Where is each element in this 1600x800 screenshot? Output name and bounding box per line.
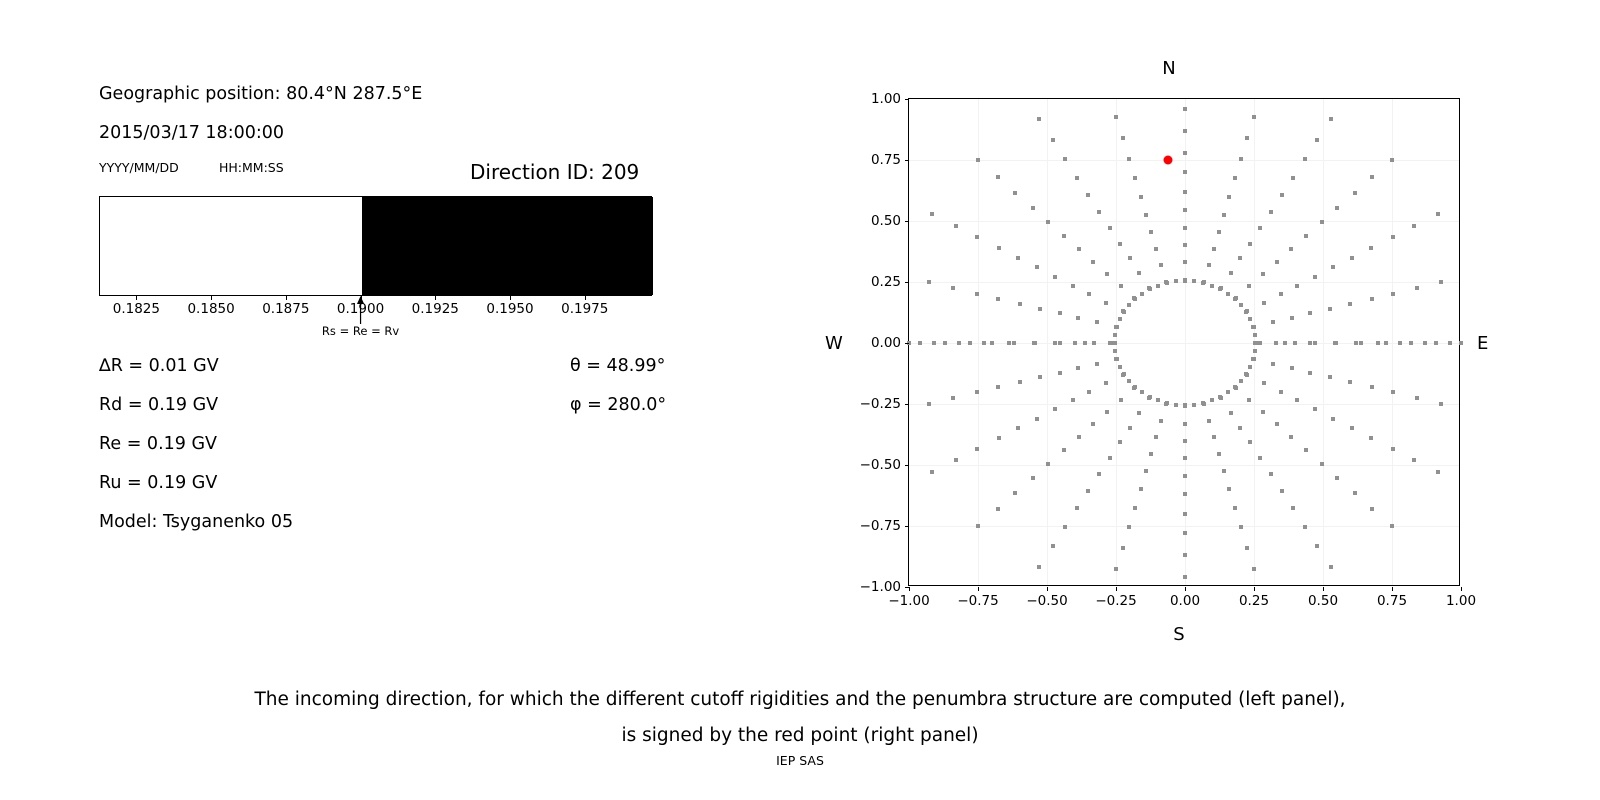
y-axis-tick <box>905 99 909 100</box>
direction-grid-point <box>1315 544 1319 548</box>
direction-grid-point <box>1046 462 1050 466</box>
direction-grid-point <box>1412 224 1416 228</box>
y-axis-tick-label: 1.00 <box>847 91 901 107</box>
direction-grid-point <box>1183 422 1187 426</box>
direction-grid-point <box>1091 422 1095 426</box>
direction-grid-point <box>1122 310 1126 314</box>
direction-grid-point <box>1127 379 1131 383</box>
direction-grid-point <box>1086 489 1090 493</box>
direction-grid-point <box>1258 341 1262 345</box>
direction-grid-point <box>1459 341 1463 345</box>
direction-grid-point <box>1121 546 1125 550</box>
x-axis-tick-label: −0.25 <box>1095 593 1136 609</box>
direction-grid-point <box>1148 395 1152 399</box>
direction-grid-point <box>1113 333 1117 337</box>
left-panel: Geographic position: 80.4°N 287.5°E 2015… <box>0 0 700 660</box>
direction-grid-point <box>1119 284 1123 288</box>
direction-grid-point <box>1328 375 1332 379</box>
direction-grid-point <box>1051 544 1055 548</box>
direction-grid-point <box>1007 341 1011 345</box>
y-axis-tick <box>905 404 909 405</box>
direction-grid-point <box>1295 398 1299 402</box>
direction-grid-point <box>1077 435 1081 439</box>
direction-grid-point <box>927 402 931 406</box>
direction-grid-point <box>1348 302 1352 306</box>
direction-grid-point <box>997 436 1001 440</box>
direction-grid-point <box>1035 265 1039 269</box>
direction-grid-point <box>968 341 972 345</box>
direction-grid-point <box>1133 297 1137 301</box>
gridline-horizontal <box>909 526 1459 527</box>
direction-grid-point <box>1391 447 1395 451</box>
direction-grid-point <box>957 341 961 345</box>
direction-grid-point <box>1122 372 1126 376</box>
direction-grid-point <box>1331 417 1335 421</box>
direction-grid-point <box>1075 176 1079 180</box>
direction-grid-point <box>1012 341 1016 345</box>
direction-grid-point <box>975 447 979 451</box>
direction-grid-point <box>1313 341 1317 345</box>
y-axis-tick-label: 0.00 <box>847 335 901 351</box>
direction-grid-point <box>1275 260 1279 264</box>
direction-grid-point <box>1293 341 1297 345</box>
direction-grid-point <box>1207 263 1211 267</box>
direction-grid-point <box>1238 256 1242 260</box>
x-axis-tick-label: 0.50 <box>1308 593 1338 609</box>
direction-grid-point <box>1238 426 1242 430</box>
y-axis-tick-label: 0.75 <box>847 152 901 168</box>
direction-grid-point <box>1271 320 1275 324</box>
penumbra-tick <box>136 296 137 300</box>
direction-grid-point <box>1247 398 1251 402</box>
direction-grid-point <box>1174 279 1178 283</box>
direction-grid-point <box>1354 341 1358 345</box>
direction-grid-point <box>1086 193 1090 197</box>
direction-grid-point <box>1097 210 1101 214</box>
direction-grid-point <box>1149 452 1153 456</box>
direction-grid-point <box>1291 506 1295 510</box>
direction-grid-point <box>1295 284 1299 288</box>
direction-grid-point <box>1369 436 1373 440</box>
param-delta-r: ∆R = 0.01 GV <box>99 356 219 376</box>
direction-grid-point <box>1165 281 1169 285</box>
direction-grid-point <box>1353 491 1357 495</box>
datetime-value: 2015/03/17 18:00:00 <box>99 123 284 143</box>
direction-grid-point <box>930 470 934 474</box>
x-axis-tick <box>1047 587 1048 591</box>
direction-grid-point <box>1087 292 1091 296</box>
direction-grid-point <box>1239 525 1243 529</box>
direction-grid-point <box>1183 208 1187 212</box>
direction-grid-point <box>1245 546 1249 550</box>
direction-grid-point <box>1280 193 1284 197</box>
direction-grid-point <box>997 246 1001 250</box>
direction-grid-point <box>1105 272 1109 276</box>
direction-grid-point <box>1350 256 1354 260</box>
direction-grid-point <box>1053 275 1057 279</box>
direction-grid-point <box>1244 310 1248 314</box>
direction-grid-point <box>1253 349 1257 353</box>
direction-grid-point <box>1248 242 1252 246</box>
direction-grid-point <box>1075 506 1079 510</box>
direction-grid-point <box>1289 247 1293 251</box>
direction-grid-point <box>1218 395 1222 399</box>
penumbra-allowed-band <box>100 197 362 295</box>
direction-grid-point <box>1104 301 1108 305</box>
direction-grid-point <box>1279 390 1283 394</box>
penumbra-tick-label: 0.1875 <box>262 301 309 317</box>
direction-grid-point <box>1239 379 1243 383</box>
direction-grid-point <box>1229 411 1233 415</box>
direction-grid-point <box>1091 260 1095 264</box>
direction-grid-point <box>1248 440 1252 444</box>
direction-grid-point <box>1114 115 1118 119</box>
direction-grid-point <box>1113 349 1117 353</box>
direction-grid-point <box>1244 372 1248 376</box>
direction-grid-point <box>1159 263 1163 267</box>
direction-grid-point <box>1258 456 1262 460</box>
direction-grid-point <box>1329 565 1333 569</box>
gridline-vertical <box>1047 99 1048 585</box>
direction-grid-point <box>1128 256 1132 260</box>
direction-grid-point <box>1412 458 1416 462</box>
direction-grid-point <box>1390 524 1394 528</box>
gridline-vertical <box>1392 99 1393 585</box>
compass-label-east: E <box>1477 333 1488 354</box>
x-axis-tick-label: 0.75 <box>1377 593 1407 609</box>
x-axis-tick-label: −0.75 <box>957 593 998 609</box>
direction-grid-point <box>1156 398 1160 402</box>
direction-grid-point <box>1016 256 1020 260</box>
direction-grid-point <box>1308 341 1312 345</box>
direction-id-label: Direction ID: 209 <box>470 160 639 184</box>
y-axis-tick-label: −0.75 <box>847 518 901 534</box>
direction-grid-point <box>1183 492 1187 496</box>
direction-grid-point <box>1092 341 1096 345</box>
direction-grid-point <box>1248 365 1252 369</box>
direction-grid-point <box>1165 401 1169 405</box>
y-axis-tick-label: −0.25 <box>847 396 901 412</box>
direction-grid-point <box>1335 476 1339 480</box>
direction-grid-point <box>975 390 979 394</box>
direction-grid-point <box>930 212 934 216</box>
direction-grid-point <box>951 396 955 400</box>
direction-grid-point <box>996 175 1000 179</box>
direction-grid-point <box>1376 341 1380 345</box>
direction-grid-point <box>1108 226 1112 230</box>
direction-grid-point <box>1233 297 1237 301</box>
direction-grid-point <box>1391 235 1395 239</box>
direction-grid-point <box>927 280 931 284</box>
direction-grid-point <box>1133 506 1137 510</box>
direction-grid-point <box>1239 303 1243 307</box>
direction-grid-point <box>1058 311 1062 315</box>
direction-grid-point <box>1137 271 1141 275</box>
direction-grid-point <box>1328 307 1332 311</box>
direction-grid-point <box>1233 385 1237 389</box>
direction-grid-point <box>1097 472 1101 476</box>
direction-grid-point <box>1391 292 1395 296</box>
direction-grid-point <box>1423 341 1427 345</box>
direction-grid-point <box>1248 317 1252 321</box>
direction-grid-point <box>1108 341 1112 345</box>
direction-grid-point <box>1415 396 1419 400</box>
penumbra-tick <box>211 296 212 300</box>
caption-line-2: is signed by the red point (right panel) <box>0 718 1600 754</box>
direction-grid-point <box>1227 195 1231 199</box>
direction-grid-point <box>1038 375 1042 379</box>
direction-grid-point <box>1095 320 1099 324</box>
direction-grid-point <box>1133 176 1137 180</box>
direction-grid-point <box>1320 462 1324 466</box>
direction-grid-point <box>1183 553 1187 557</box>
direction-grid-point <box>1222 469 1226 473</box>
footer-attribution: IEP SAS <box>0 753 1600 768</box>
direction-grid-point <box>1207 419 1211 423</box>
direction-grid-point <box>1121 136 1125 140</box>
direction-grid-point <box>1183 129 1187 133</box>
x-axis-tick <box>1392 587 1393 591</box>
time-format-hint: HH:MM:SS <box>219 160 284 175</box>
direction-grid-point <box>1212 435 1216 439</box>
direction-grid-point <box>1062 234 1066 238</box>
direction-grid-point <box>1348 380 1352 384</box>
x-axis-tick <box>1254 587 1255 591</box>
direction-grid-point <box>1051 138 1055 142</box>
direction-grid-point <box>1258 226 1262 230</box>
direction-grid-point <box>1118 317 1122 321</box>
x-axis-tick-label: −0.50 <box>1026 593 1067 609</box>
direction-grid-point <box>1239 157 1243 161</box>
param-theta: θ = 48.99° <box>570 356 665 376</box>
direction-grid-point <box>1183 439 1187 443</box>
direction-grid-point <box>1308 371 1312 375</box>
direction-grid-point <box>1018 380 1022 384</box>
param-re: Re = 0.19 GV <box>99 434 217 454</box>
direction-grid-point <box>1280 489 1284 493</box>
direction-grid-point <box>1384 341 1388 345</box>
direction-grid-point <box>1087 390 1091 394</box>
direction-grid-point <box>1409 341 1413 345</box>
direction-grid-point <box>975 292 979 296</box>
x-axis-tick-label: 1.00 <box>1446 593 1476 609</box>
direction-grid-point <box>1304 234 1308 238</box>
direction-grid-point <box>1183 107 1187 111</box>
gridline-horizontal <box>909 465 1459 466</box>
direction-grid-point <box>1251 357 1255 361</box>
direction-sky-plot: −1.00−1.00−0.75−0.75−0.50−0.50−0.25−0.25… <box>908 98 1460 586</box>
geographic-position: Geographic position: 80.4°N 287.5°E <box>99 84 422 104</box>
direction-grid-point <box>1137 411 1141 415</box>
direction-grid-point <box>1252 115 1256 119</box>
direction-grid-point <box>1108 456 1112 460</box>
direction-grid-point <box>1133 385 1137 389</box>
gridline-horizontal <box>909 160 1459 161</box>
direction-grid-point <box>1095 362 1099 366</box>
direction-grid-point <box>1062 448 1066 452</box>
direction-grid-point <box>1391 390 1395 394</box>
direction-grid-point <box>1018 302 1022 306</box>
direction-grid-point <box>1183 403 1187 407</box>
date-format-hint: YYYY/MM/DD <box>99 160 179 175</box>
direction-grid-point <box>1359 341 1363 345</box>
compass-label-south: S <box>1173 624 1184 645</box>
direction-grid-point <box>1114 567 1118 571</box>
direction-grid-point <box>1436 470 1440 474</box>
right-panel: −1.00−1.00−0.75−0.75−0.50−0.50−0.25−0.25… <box>700 0 1600 660</box>
direction-grid-point <box>1058 371 1062 375</box>
direction-grid-point <box>954 458 958 462</box>
rs-annotation-label: Rs = Re = Rv <box>322 324 399 338</box>
direction-grid-point <box>1217 452 1221 456</box>
y-axis-tick-label: −0.50 <box>847 457 901 473</box>
penumbra-axis: Rs = Re = Rv 0.18250.18500.18750.19000.1… <box>99 296 652 326</box>
direction-grid-point <box>1053 407 1057 411</box>
direction-grid-point <box>996 297 1000 301</box>
compass-label-west: W <box>825 333 843 354</box>
penumbra-tick-label: 0.1900 <box>337 301 384 317</box>
figure-caption: The incoming direction, for which the di… <box>0 682 1600 754</box>
direction-grid-point <box>1313 275 1317 279</box>
y-axis-tick <box>905 587 909 588</box>
direction-grid-point <box>1156 284 1160 288</box>
direction-grid-point <box>1253 333 1257 337</box>
direction-grid-point <box>1290 366 1294 370</box>
direction-grid-point <box>1304 448 1308 452</box>
direction-grid-point <box>1247 284 1251 288</box>
direction-grid-point <box>1115 357 1119 361</box>
direction-grid-point <box>1139 487 1143 491</box>
direction-grid-point <box>1031 476 1035 480</box>
direction-grid-point <box>1279 292 1283 296</box>
direction-grid-point <box>1350 426 1354 430</box>
direction-grid-point <box>1013 491 1017 495</box>
x-axis-tick <box>1461 587 1462 591</box>
direction-grid-point <box>1329 117 1333 121</box>
direction-grid-point <box>1038 307 1042 311</box>
direction-grid-point <box>1115 325 1119 329</box>
direction-grid-point <box>1320 220 1324 224</box>
direction-grid-point <box>1105 410 1109 414</box>
direction-grid-point <box>918 341 922 345</box>
direction-grid-point <box>1077 247 1081 251</box>
penumbra-bar <box>99 196 652 296</box>
direction-grid-point <box>1154 435 1158 439</box>
x-axis-tick <box>978 587 979 591</box>
direction-grid-point <box>1201 281 1205 285</box>
direction-grid-point <box>1016 426 1020 430</box>
direction-grid-point <box>1183 456 1187 460</box>
direction-grid-point <box>996 385 1000 389</box>
direction-grid-point <box>1313 407 1317 411</box>
direction-grid-point <box>1183 226 1187 230</box>
direction-grid-point <box>1303 525 1307 529</box>
y-axis-tick <box>905 343 909 344</box>
penumbra-tick-label: 0.1950 <box>486 301 533 317</box>
direction-grid-point <box>1434 341 1438 345</box>
direction-grid-point <box>990 341 994 345</box>
direction-grid-point <box>1271 362 1275 366</box>
direction-grid-point <box>1331 265 1335 269</box>
direction-grid-point <box>1071 284 1075 288</box>
direction-grid-point <box>1289 435 1293 439</box>
direction-grid-point <box>1233 506 1237 510</box>
direction-grid-point <box>1253 341 1257 345</box>
y-axis-tick <box>905 526 909 527</box>
y-axis-tick-label: −1.00 <box>847 579 901 595</box>
direction-grid-point <box>1262 381 1266 385</box>
direction-grid-point <box>1283 341 1287 345</box>
direction-grid-point <box>943 341 947 345</box>
direction-grid-point <box>1183 170 1187 174</box>
direction-grid-point <box>1192 403 1196 407</box>
direction-grid-point <box>1226 292 1230 296</box>
caption-line-1: The incoming direction, for which the di… <box>0 682 1600 718</box>
direction-grid-point <box>975 235 979 239</box>
direction-grid-point <box>1128 426 1132 430</box>
direction-grid-point <box>1013 191 1017 195</box>
param-phi: φ = 280.0° <box>570 395 666 415</box>
direction-grid-point <box>1308 311 1312 315</box>
direction-grid-point <box>1370 507 1374 511</box>
x-axis-tick-label: 0.25 <box>1239 593 1269 609</box>
penumbra-tick <box>510 296 511 300</box>
param-rd: Rd = 0.19 GV <box>99 395 218 415</box>
penumbra-tick-label: 0.1975 <box>561 301 608 317</box>
direction-grid-point <box>1037 117 1041 121</box>
direction-grid-point <box>1183 260 1187 264</box>
direction-grid-point <box>1229 271 1233 275</box>
x-axis-tick <box>1185 587 1186 591</box>
direction-grid-point <box>1154 247 1158 251</box>
direction-grid-point <box>1369 246 1373 250</box>
direction-grid-point <box>1251 325 1255 329</box>
selected-direction-marker[interactable] <box>1164 156 1173 165</box>
penumbra-tick <box>585 296 586 300</box>
compass-label-north: N <box>1162 58 1175 79</box>
direction-grid-point <box>1183 279 1187 283</box>
direction-grid-point <box>1227 487 1231 491</box>
direction-grid-point <box>1148 287 1152 291</box>
param-ru: Ru = 0.19 GV <box>99 473 217 493</box>
direction-grid-point <box>1149 230 1153 234</box>
direction-grid-point <box>1183 190 1187 194</box>
direction-grid-point <box>1274 341 1278 345</box>
direction-grid-point <box>1118 440 1122 444</box>
direction-grid-point <box>1370 297 1374 301</box>
direction-grid-point <box>1436 212 1440 216</box>
direction-grid-point <box>996 507 1000 511</box>
direction-grid-point <box>1398 341 1402 345</box>
direction-grid-point <box>1315 138 1319 142</box>
direction-grid-point <box>1183 512 1187 516</box>
direction-grid-point <box>1275 422 1279 426</box>
direction-grid-point <box>1353 191 1357 195</box>
direction-grid-point <box>1183 243 1187 247</box>
direction-grid-point <box>1071 398 1075 402</box>
direction-grid-point <box>1127 157 1131 161</box>
direction-grid-point <box>1104 381 1108 385</box>
gridline-horizontal <box>909 221 1459 222</box>
direction-grid-point <box>1269 210 1273 214</box>
direction-grid-point <box>1439 280 1443 284</box>
x-axis-tick-label: 0.00 <box>1170 593 1200 609</box>
direction-grid-point <box>1032 341 1036 345</box>
direction-grid-point <box>1201 401 1205 405</box>
penumbra-tick <box>361 296 362 300</box>
direction-grid-point <box>1334 341 1338 345</box>
direction-grid-point <box>1217 230 1221 234</box>
